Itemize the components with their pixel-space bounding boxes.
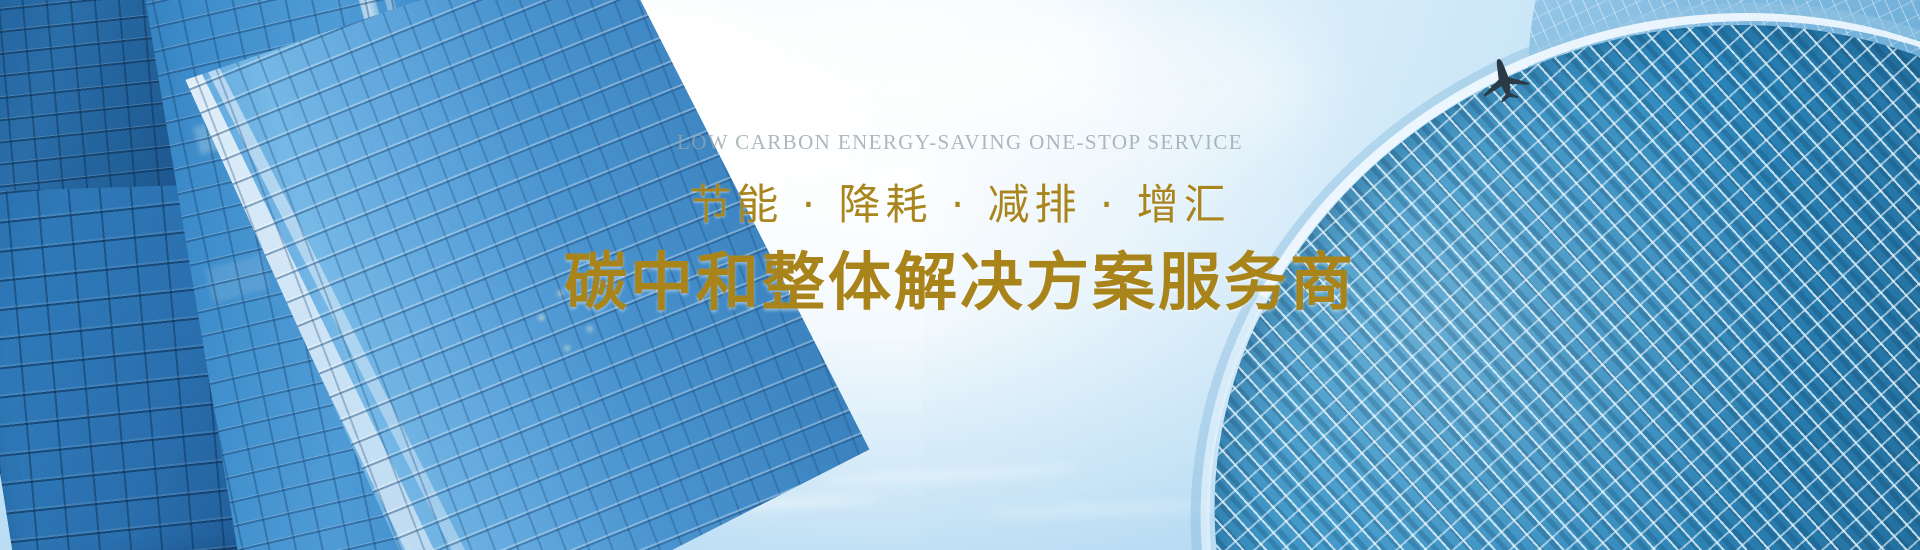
hero-banner: LOW CARBON ENERGY-SAVING ONE-STOP SERVIC…	[0, 0, 1920, 550]
cloud-shape	[980, 10, 1320, 160]
